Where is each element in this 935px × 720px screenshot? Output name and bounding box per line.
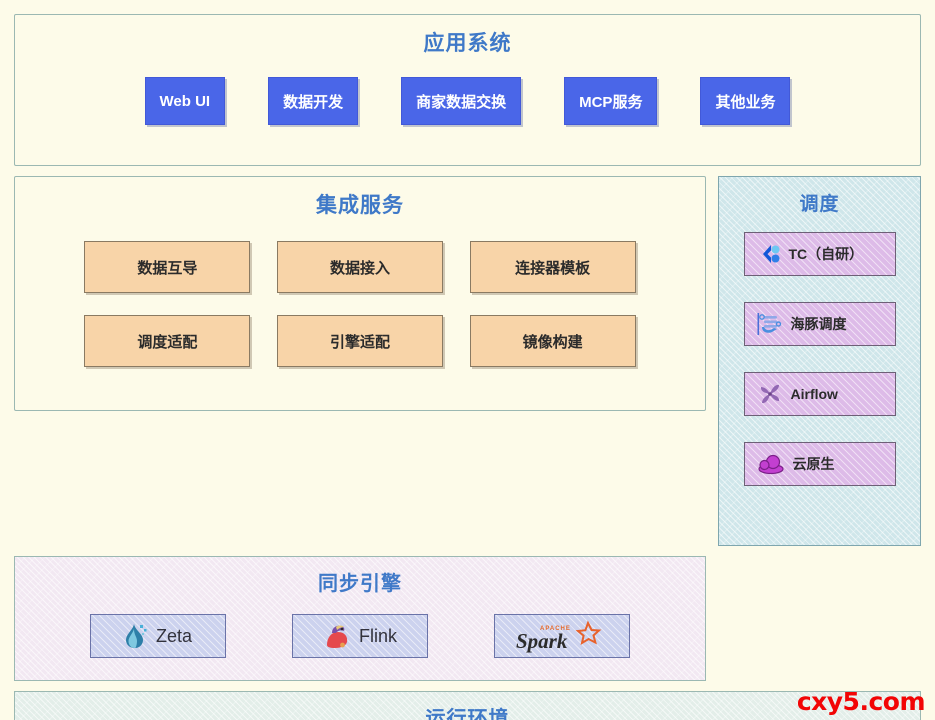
integration-service-items: 数据互导 数据接入 连接器模板 调度适配 引擎适配 镜像构建 (15, 241, 705, 367)
middle-section: 集成服务 数据互导 数据接入 连接器模板 调度适配 引擎适配 镜像构 (14, 176, 921, 546)
application-system-title: 应用系统 (15, 27, 920, 57)
runtime-environment-title: 运行环境 (15, 702, 920, 720)
sync-item-spark[interactable]: APACHE Spark (494, 614, 630, 658)
app-item-data-development[interactable]: 数据开发 (268, 77, 358, 125)
airflow-pinwheel-icon (757, 382, 783, 406)
scheduler-item-label: 海豚调度 (791, 314, 847, 334)
scheduler-title: 调度 (719, 189, 920, 216)
integ-item-label: 数据互导 (137, 257, 197, 278)
sync-item-label: Flink (359, 626, 397, 647)
scheduler-item-cloud-native[interactable]: 云原生 (744, 442, 896, 486)
tc-logo-icon (757, 243, 781, 265)
app-item-other-business[interactable]: 其他业务 (700, 77, 790, 125)
app-item-label: 数据开发 (283, 91, 343, 112)
architecture-diagram: 应用系统 Web UI 数据开发 商家数据交换 MCP服务 其他业务 集成服务 (0, 0, 935, 720)
svg-text:Spark: Spark (516, 629, 568, 653)
sync-item-zeta[interactable]: Zeta (90, 614, 226, 658)
runtime-environment-panel: 运行环境 (14, 691, 921, 720)
integ-item-data-ingestion[interactable]: 数据接入 (277, 241, 443, 293)
scheduler-item-label: TC（自研） (789, 244, 864, 264)
application-system-panel: 应用系统 Web UI 数据开发 商家数据交换 MCP服务 其他业务 (14, 14, 921, 166)
app-item-label: 商家数据交换 (416, 91, 506, 112)
app-item-merchant-data-exchange[interactable]: 商家数据交换 (401, 77, 521, 125)
integ-item-scheduler-adapter[interactable]: 调度适配 (84, 315, 250, 367)
scheduler-panel: 调度 TC（自研） (718, 176, 921, 546)
integ-item-connector-template[interactable]: 连接器模板 (470, 241, 636, 293)
flink-squirrel-icon (323, 623, 351, 649)
sync-item-label: Zeta (156, 626, 192, 647)
app-item-label: MCP服务 (579, 91, 642, 112)
integ-item-label: 镜像构建 (523, 331, 583, 352)
app-item-web-ui[interactable]: Web UI (145, 77, 226, 125)
application-system-items: Web UI 数据开发 商家数据交换 MCP服务 其他业务 (15, 77, 920, 125)
dolphinscheduler-logo-icon (757, 312, 783, 336)
integ-item-engine-adapter[interactable]: 引擎适配 (277, 315, 443, 367)
sync-engine-title: 同步引擎 (15, 567, 705, 596)
integ-item-label: 调度适配 (137, 331, 197, 352)
integration-service-panel: 集成服务 数据互导 数据接入 连接器模板 调度适配 引擎适配 镜像构 (14, 176, 706, 411)
app-item-label: Web UI (160, 93, 211, 110)
sync-item-flink[interactable]: Flink (292, 614, 428, 658)
spark-logo-icon: APACHE Spark (514, 619, 610, 653)
zeta-logo-icon (124, 623, 148, 649)
scheduler-item-airflow[interactable]: Airflow (744, 372, 896, 416)
integ-item-image-build[interactable]: 镜像构建 (470, 315, 636, 367)
app-item-mcp-service[interactable]: MCP服务 (564, 77, 657, 125)
sync-engine-items: Zeta Flink APACHE (15, 614, 705, 658)
scheduler-item-label: 云原生 (793, 454, 835, 474)
sync-engine-panel: 同步引擎 Zeta (14, 556, 706, 681)
cloud-native-icon (757, 453, 785, 475)
scheduler-item-label: Airflow (791, 386, 838, 402)
integ-item-label: 数据接入 (330, 257, 390, 278)
scheduler-items: TC（自研） 海豚调度 (719, 232, 920, 486)
app-item-label: 其他业务 (715, 91, 775, 112)
scheduler-item-dolphinscheduler[interactable]: 海豚调度 (744, 302, 896, 346)
integration-service-title: 集成服务 (15, 189, 705, 219)
integ-item-data-mutual-transfer[interactable]: 数据互导 (84, 241, 250, 293)
integ-item-label: 引擎适配 (330, 331, 390, 352)
scheduler-item-tc[interactable]: TC（自研） (744, 232, 896, 276)
integ-item-label: 连接器模板 (515, 257, 590, 278)
